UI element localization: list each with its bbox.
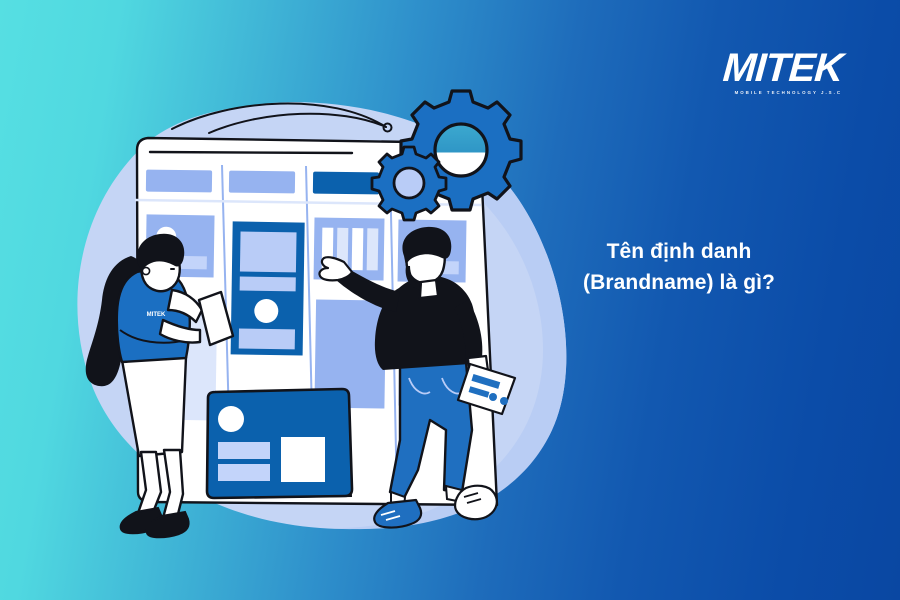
slide-canvas: MITEK xyxy=(0,0,900,600)
headline-line-1: Tên định danh xyxy=(514,236,844,267)
logo-tagline: MOBILE TECHNOLOGY J.S.C xyxy=(723,91,842,95)
id-name-card xyxy=(207,389,352,499)
headline: Tên định danh (Brandname) là gì? xyxy=(514,236,844,298)
headline-line-2: (Brandname) là gì? xyxy=(514,267,844,298)
logo-wordmark: MITEK xyxy=(721,48,843,88)
mitek-logo: MITEK MOBILE TECHNOLOGY J.S.C xyxy=(723,48,842,95)
board-card-col2-dark xyxy=(231,221,305,355)
woman-shirt-logo: MITEK xyxy=(147,312,166,318)
small-gear xyxy=(372,147,446,220)
